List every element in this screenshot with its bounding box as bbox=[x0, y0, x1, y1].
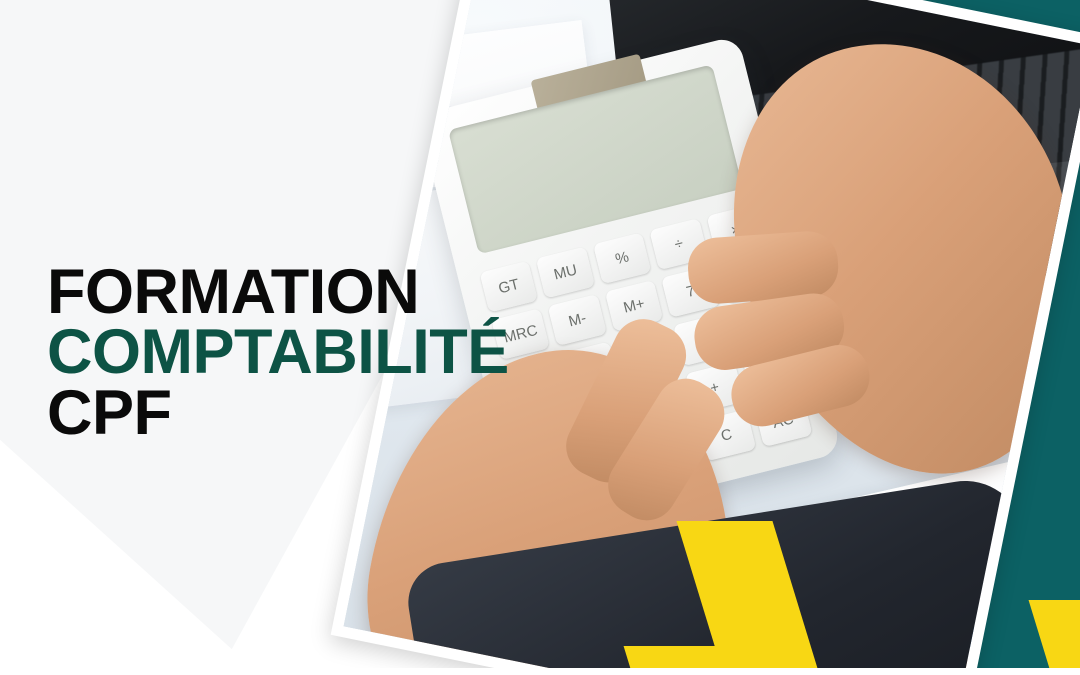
page-title: FORMATION COMPTABILITÉ CPF bbox=[47, 262, 647, 443]
bottom-strip bbox=[0, 668, 1080, 675]
banner-root: Série 1 Série 2 GT MU % ÷ × MRC bbox=[0, 0, 1080, 675]
headline-line-3: CPF bbox=[47, 383, 647, 443]
headline-line-2: COMPTABILITÉ bbox=[47, 322, 647, 382]
headline-line-1: FORMATION bbox=[47, 262, 647, 322]
